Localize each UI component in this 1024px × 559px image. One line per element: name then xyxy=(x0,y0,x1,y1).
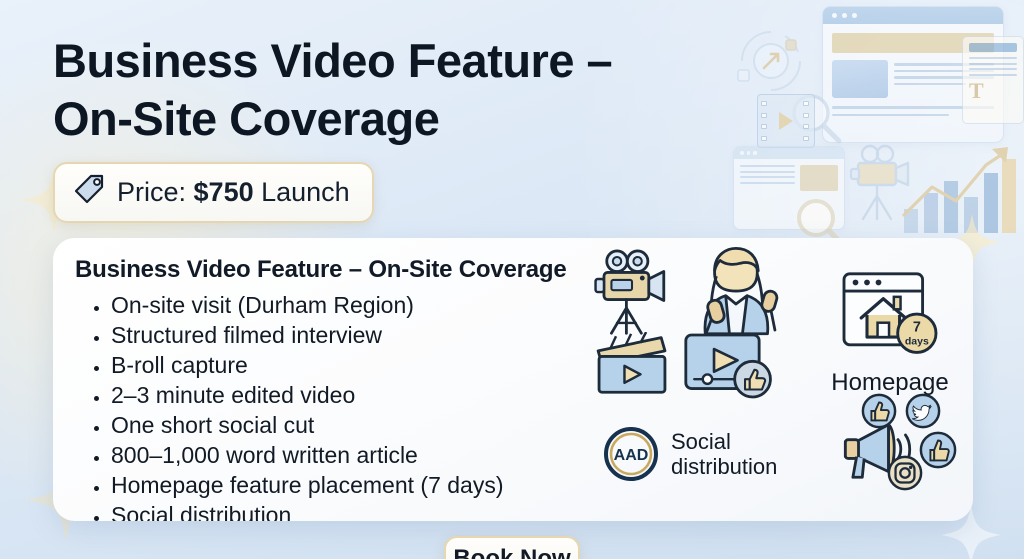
decor-dot xyxy=(740,151,744,155)
svg-text:7: 7 xyxy=(913,319,921,335)
decor-line xyxy=(740,165,795,167)
promo-graphic-canvas: T xyxy=(0,0,1024,559)
decor-dot xyxy=(842,13,847,18)
decor-perforations-left xyxy=(761,98,769,144)
video-camera-tripod-icon xyxy=(589,248,675,343)
browser-window-decor-icon xyxy=(822,6,1004,143)
list-item: One short social cut xyxy=(111,410,504,440)
homepage-browser-house-icon: 7 days xyxy=(834,349,946,366)
svg-text:AAD: AAD xyxy=(614,447,649,464)
price-prefix: Price: xyxy=(117,177,194,207)
svg-text:days: days xyxy=(905,336,929,348)
price-tag-icon xyxy=(72,173,106,212)
decor-line xyxy=(894,83,966,86)
decor-titlebar xyxy=(734,147,844,159)
social-distribution-line-2: distribution xyxy=(671,454,777,479)
thumbs-up-icon xyxy=(861,393,897,434)
list-item: Structured filmed interview xyxy=(111,320,504,350)
camera-tripod-decor-icon xyxy=(840,144,918,224)
social-icons-cluster xyxy=(833,393,963,483)
decor-browser-body xyxy=(823,24,1003,125)
social-distribution-line-1: Social xyxy=(671,429,777,454)
decor-thumbnail xyxy=(832,60,888,98)
list-item: Homepage feature placement (7 days) xyxy=(111,470,504,500)
decor-footer-lines xyxy=(832,106,994,116)
browser-search-decor-icon xyxy=(733,146,845,230)
list-item: B-roll capture xyxy=(111,350,504,380)
decor-line xyxy=(894,70,994,73)
page-title-line-2: On-Site Coverage xyxy=(53,90,733,148)
reporter-microphone-icon xyxy=(683,246,787,343)
list-item: 800–1,000 word written article xyxy=(111,440,504,470)
decor-browser-body xyxy=(734,159,844,197)
feature-list: On-site visit (Durham Region) Structured… xyxy=(83,290,504,521)
twitter-bird-icon xyxy=(905,393,941,434)
decor-dot xyxy=(832,13,837,18)
decor-play-triangle xyxy=(779,112,793,130)
list-item: Social distribution xyxy=(111,500,504,521)
decor-image-block xyxy=(800,165,838,191)
homepage-feature-block: 7 days Homepage xyxy=(820,270,960,397)
decor-text-lines xyxy=(740,165,795,191)
production-icon-cluster xyxy=(589,248,805,408)
decor-line xyxy=(894,76,994,79)
price-badge: Price: $750 Launch xyxy=(53,162,374,223)
page-title-line-1: Business Video Feature – xyxy=(53,32,733,90)
clapperboard-icon xyxy=(593,332,671,401)
decor-line xyxy=(740,182,795,184)
decor-doc-line xyxy=(969,57,1017,59)
price-suffix: Launch xyxy=(254,177,350,207)
page-title: Business Video Feature – On-Site Coverag… xyxy=(53,32,733,149)
decor-doc-line xyxy=(969,68,1017,70)
video-player-thumbsup-icon xyxy=(683,332,777,405)
orbit-arrow-decor-icon xyxy=(728,18,814,104)
decor-line xyxy=(894,63,994,66)
growth-chart-decor-icon xyxy=(900,143,1018,235)
decor-dot xyxy=(852,13,857,18)
decor-dot xyxy=(753,151,757,155)
decor-hero-block xyxy=(832,33,994,53)
decor-line xyxy=(740,176,795,178)
decor-doc-header xyxy=(969,43,1017,52)
decor-dot xyxy=(747,151,751,155)
list-item: On-site visit (Durham Region) xyxy=(111,290,504,320)
document-magnifier-decor-icon: T xyxy=(962,36,1024,124)
decor-perforations-right xyxy=(803,98,811,144)
film-strip-decor-icon xyxy=(757,94,815,148)
social-distribution-label: Social distribution xyxy=(671,429,777,479)
book-now-button[interactable]: Book Now xyxy=(444,536,580,559)
price-text: Price: $750 Launch xyxy=(117,177,350,208)
aad-logo-icon: AAD xyxy=(603,426,659,482)
price-amount: $750 xyxy=(194,177,254,207)
decor-doc-line xyxy=(969,74,1017,76)
decor-typography-t: T xyxy=(969,80,1017,102)
decor-titlebar xyxy=(823,7,1003,24)
card-title: Business Video Feature – On-Site Coverag… xyxy=(75,256,567,284)
thumbs-up-icon xyxy=(919,431,957,474)
offer-card: Business Video Feature – On-Site Coverag… xyxy=(53,238,973,521)
instagram-icon xyxy=(887,455,923,496)
decor-text-lines xyxy=(894,60,994,98)
book-now-label: Book Now xyxy=(453,545,570,559)
decor-doc-line xyxy=(969,63,1017,65)
decor-content-row xyxy=(832,60,994,98)
list-item: 2–3 minute edited video xyxy=(111,380,504,410)
decor-line xyxy=(832,106,994,109)
decor-line xyxy=(832,114,949,117)
social-distribution-block: AAD Social distribution xyxy=(603,426,777,482)
magnifier-decor-icon xyxy=(786,88,846,148)
decor-line xyxy=(740,171,795,173)
